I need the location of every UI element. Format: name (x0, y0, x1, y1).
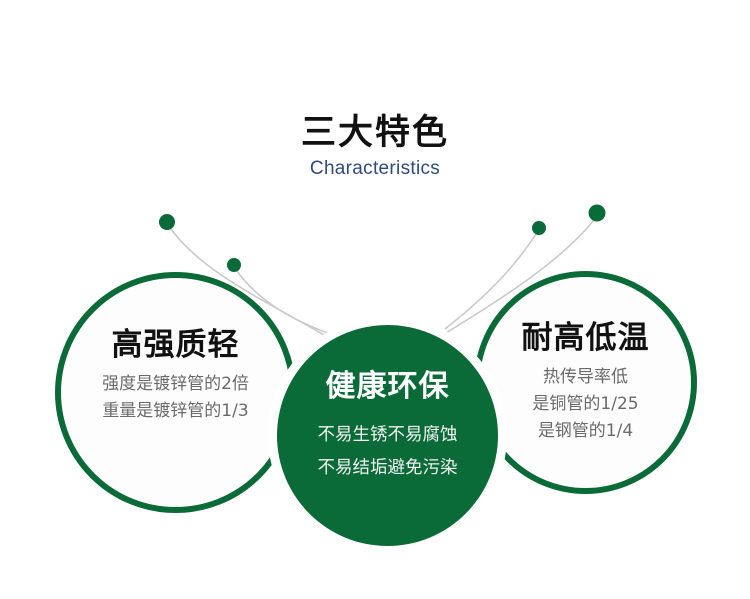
feature-title: 健康环保 (326, 369, 450, 405)
feature-description: 强度是镀锌管的2倍 重量是镀锌管的1/3 (102, 371, 249, 425)
feature-line: 是钢管的1/4 (532, 418, 638, 445)
feature-line: 重量是镀锌管的1/3 (102, 398, 249, 425)
feature-infographic: 三大特色 Characteristics 高强质轻 强度是镀锌管的2倍 重量是镀… (0, 0, 750, 599)
dot-inner-left-icon (227, 258, 241, 272)
feature-description: 不易生锈不易腐蚀 不易结垢避免污染 (318, 419, 458, 485)
feature-line: 不易生锈不易腐蚀 (318, 419, 458, 452)
dot-inner-right-icon (532, 221, 546, 235)
feature-title: 耐高低温 (522, 320, 650, 356)
feature-line: 不易结垢避免污染 (318, 452, 458, 485)
feature-title: 高强质轻 (112, 327, 240, 363)
feature-circle-temperature-resistant[interactable]: 耐高低温 热传导率低 是铜管的1/25 是钢管的1/4 (474, 271, 697, 494)
page-subtitle: Characteristics (0, 157, 750, 181)
page-header: 三大特色 Characteristics (0, 112, 750, 181)
feature-description: 热传导率低 是铜管的1/25 是钢管的1/4 (532, 364, 638, 445)
feature-circle-high-strength[interactable]: 高强质轻 强度是镀锌管的2倍 重量是镀锌管的1/3 (55, 272, 296, 513)
page-title: 三大特色 (0, 112, 750, 154)
dot-far-right-icon (589, 205, 606, 222)
feature-line: 是铜管的1/25 (532, 391, 638, 418)
feature-line: 强度是镀锌管的2倍 (102, 371, 249, 398)
feature-line: 热传导率低 (532, 364, 638, 391)
feature-circle-healthy-eco[interactable]: 健康环保 不易生锈不易腐蚀 不易结垢避免污染 (277, 325, 498, 546)
dot-far-left-icon (159, 214, 175, 230)
